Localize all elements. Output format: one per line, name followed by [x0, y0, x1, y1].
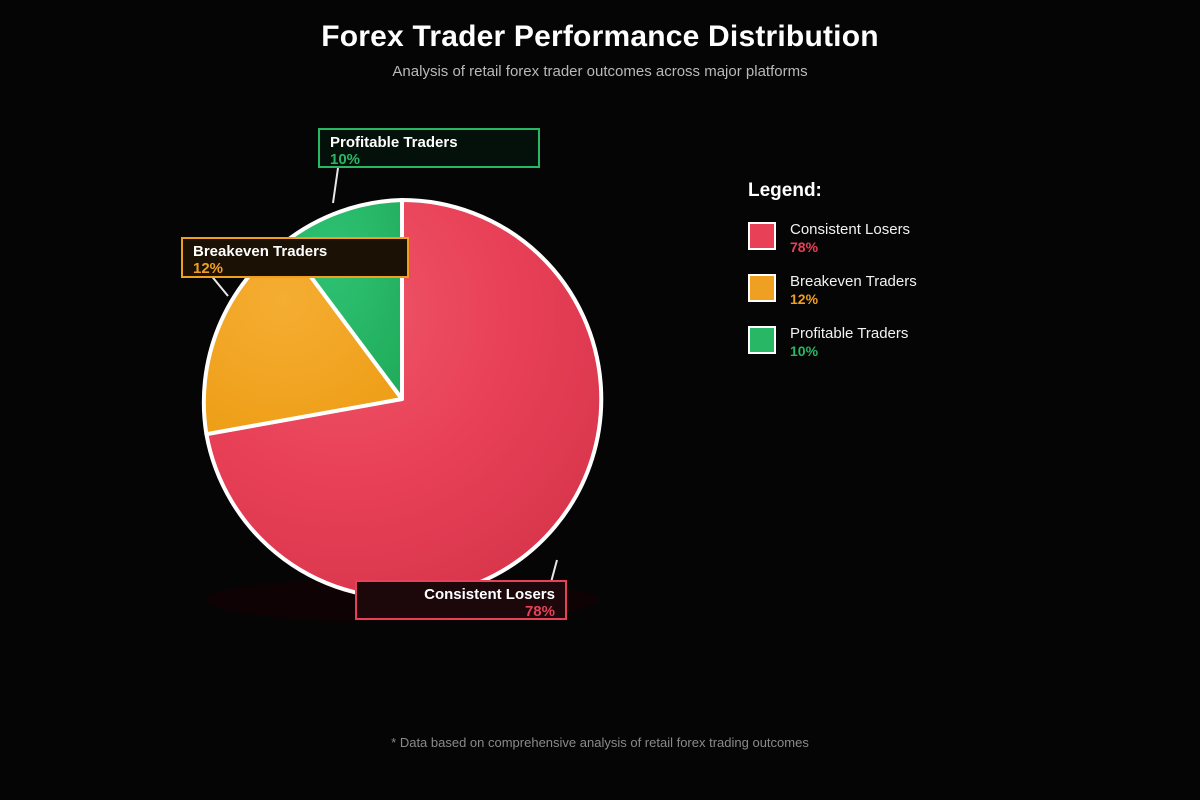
callout-value: 10% [330, 151, 530, 168]
legend-item-breakeven-traders[interactable]: Breakeven Traders 12% [748, 273, 988, 308]
callout-value: 78% [365, 603, 555, 620]
legend-label: Consistent Losers [790, 221, 910, 239]
legend-swatch-icon [748, 222, 776, 250]
callout-label: Profitable Traders [330, 134, 530, 151]
callout-consistent-losers[interactable]: Consistent Losers 78% [355, 580, 567, 620]
legend-swatch-icon [748, 274, 776, 302]
callout-label: Breakeven Traders [193, 243, 399, 260]
legend-text: Consistent Losers 78% [790, 221, 910, 256]
pie-chart-svg [0, 0, 1200, 800]
legend-label: Profitable Traders [790, 325, 908, 343]
legend-value: 10% [790, 343, 908, 360]
legend-swatch-icon [748, 326, 776, 354]
legend-title: Legend: [748, 180, 988, 202]
legend-text: Profitable Traders 10% [790, 325, 908, 360]
pie-chart-plot-area [0, 0, 1200, 800]
legend-value: 12% [790, 291, 917, 308]
callout-profitable-traders[interactable]: Profitable Traders 10% [318, 128, 540, 168]
legend-item-profitable-traders[interactable]: Profitable Traders 10% [748, 325, 988, 360]
callout-breakeven-traders[interactable]: Breakeven Traders 12% [181, 237, 409, 278]
callout-label: Consistent Losers [365, 586, 555, 603]
legend-value: 78% [790, 239, 910, 256]
footnote: * Data based on comprehensive analysis o… [0, 735, 1200, 750]
legend-item-consistent-losers[interactable]: Consistent Losers 78% [748, 221, 988, 256]
callout-value: 12% [193, 260, 399, 277]
legend-label: Breakeven Traders [790, 273, 917, 291]
legend: Legend: Consistent Losers 78% Breakeven … [748, 180, 988, 377]
legend-text: Breakeven Traders 12% [790, 273, 917, 308]
